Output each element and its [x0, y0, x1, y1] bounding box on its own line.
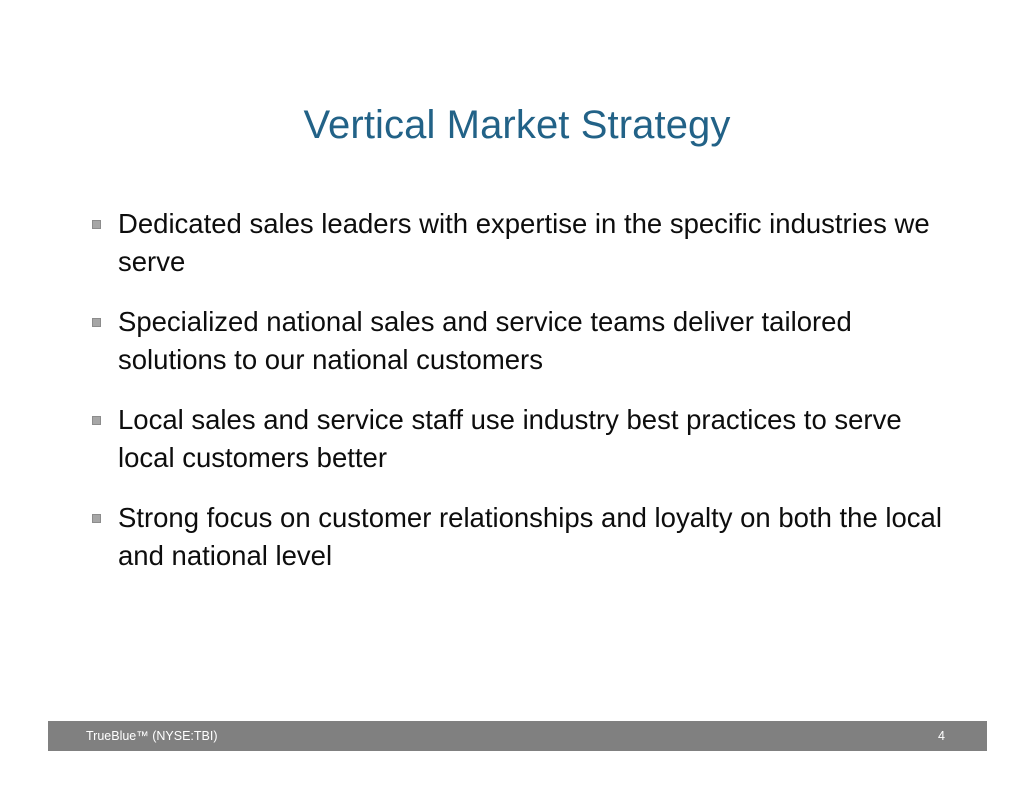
- bullet-text: Strong focus on customer relationships a…: [118, 499, 960, 575]
- square-bullet-icon: [92, 220, 101, 229]
- square-bullet-icon: [92, 318, 101, 327]
- list-item: Dedicated sales leaders with expertise i…: [90, 205, 960, 281]
- square-bullet-icon: [92, 416, 101, 425]
- list-item: Local sales and service staff use indust…: [90, 401, 960, 477]
- bullet-text: Local sales and service staff use indust…: [118, 401, 960, 477]
- footer-company-label: TrueBlue™ (NYSE:TBI): [86, 721, 218, 751]
- presentation-slide: Vertical Market Strategy Dedicated sales…: [0, 0, 1034, 799]
- bullet-text: Specialized national sales and service t…: [118, 303, 960, 379]
- bullet-text: Dedicated sales leaders with expertise i…: [118, 205, 960, 281]
- square-bullet-icon: [92, 514, 101, 523]
- bullet-list: Dedicated sales leaders with expertise i…: [90, 205, 960, 575]
- list-item: Specialized national sales and service t…: [90, 303, 960, 379]
- page-title: Vertical Market Strategy: [0, 101, 1034, 149]
- slide-footer-bar: TrueBlue™ (NYSE:TBI) 4: [48, 721, 987, 751]
- list-item: Strong focus on customer relationships a…: [90, 499, 960, 575]
- slide-page-number: 4: [938, 721, 945, 751]
